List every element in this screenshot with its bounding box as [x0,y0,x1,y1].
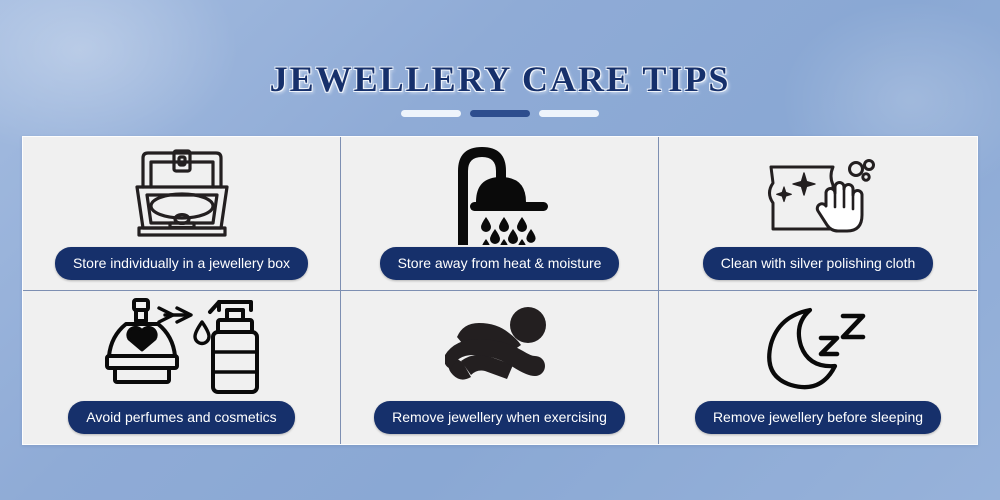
tip-label-avoid-perfumes[interactable]: Avoid perfumes and cosmetics [68,401,294,434]
page-title: JEWELLERY CARE TIPS [0,58,1000,100]
tip-cell-store-away-heat: Store away from heat & moisture [341,137,659,291]
perfume-lotion-icon [23,291,340,402]
tip-label-store-away-heat[interactable]: Store away from heat & moisture [380,247,620,280]
running-person-icon [341,291,658,402]
divider-dash-center [470,110,530,117]
polishing-cloth-hand-icon [659,137,977,247]
tips-grid: Store individually in a jewellery box [22,136,978,445]
tip-cell-clean-polishing-cloth: Clean with silver polishing cloth [659,137,977,291]
title-divider [0,110,1000,117]
moon-sleep-icon [659,291,977,402]
header: JEWELLERY CARE TIPS [0,0,1000,136]
jewellery-box-icon [23,137,340,247]
tip-cell-store-individually: Store individually in a jewellery box [23,137,341,291]
tip-label-store-individually[interactable]: Store individually in a jewellery box [55,247,308,280]
tip-cell-remove-exercising: Remove jewellery when exercising [341,291,659,445]
tip-label-remove-sleeping[interactable]: Remove jewellery before sleeping [695,401,941,434]
tip-cell-remove-sleeping: Remove jewellery before sleeping [659,291,977,445]
tip-label-remove-exercising[interactable]: Remove jewellery when exercising [374,401,625,434]
shower-icon [341,137,658,247]
divider-dash-right [539,110,599,117]
tip-label-clean-polishing-cloth[interactable]: Clean with silver polishing cloth [703,247,934,280]
divider-dash-left [401,110,461,117]
tip-cell-avoid-perfumes: Avoid perfumes and cosmetics [23,291,341,445]
